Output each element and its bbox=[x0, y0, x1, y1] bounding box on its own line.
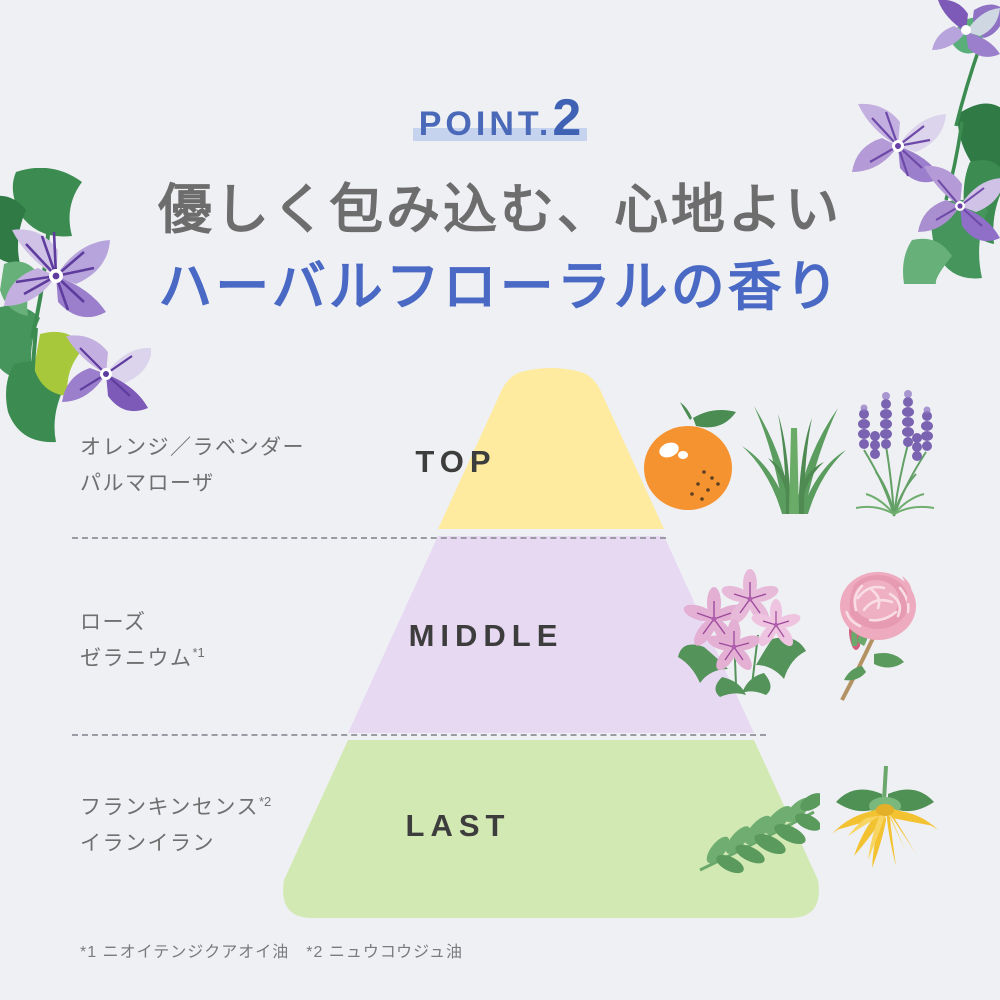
note-group-top: オレンジ／ラベンダー パルマローザ bbox=[80, 430, 305, 502]
note-top-line-2: パルマローザ bbox=[80, 466, 305, 502]
note-middle-superscript: *1 bbox=[193, 645, 205, 660]
page-title: 優しく包み込む、心地よい ハーバルフローラルの香り bbox=[0, 172, 1000, 325]
note-last-line-2: イランイラン bbox=[80, 826, 271, 862]
note-last-superscript: *2 bbox=[259, 794, 271, 809]
headline-line-2: ハーバルフローラルの香り bbox=[0, 249, 1000, 326]
point-badge: POINT.2 bbox=[0, 92, 1000, 152]
note-top-line-1: オレンジ／ラベンダー bbox=[80, 430, 305, 466]
footnote: *1 ニオイテンジクアオイ油 *2 ニュウコウジュ油 bbox=[80, 938, 463, 962]
point-badge-number: 2 bbox=[552, 89, 581, 147]
poster-canvas: TOP MIDDLE LAST POINT.2 優しく包み込む、心地よい ハーバ… bbox=[0, 0, 1000, 1000]
divider-middle-last bbox=[72, 734, 766, 736]
note-middle-line-2: ゼラニウム*1 bbox=[80, 641, 205, 677]
note-last-text: フランキンセンス bbox=[80, 796, 259, 819]
divider-top-middle bbox=[72, 537, 666, 539]
note-group-last: フランキンセンス*2 イランイラン bbox=[80, 790, 271, 862]
headline-line-1: 優しく包み込む、心地よい bbox=[0, 172, 1000, 249]
note-group-middle: ローズ ゼラニウム*1 bbox=[80, 605, 205, 677]
note-last-line-1: フランキンセンス*2 bbox=[80, 790, 271, 826]
point-badge-inner: POINT.2 bbox=[413, 92, 588, 144]
point-badge-prefix: POINT. bbox=[419, 105, 553, 143]
note-middle-text: ゼラニウム bbox=[80, 647, 193, 670]
note-middle-line-1: ローズ bbox=[80, 605, 205, 641]
